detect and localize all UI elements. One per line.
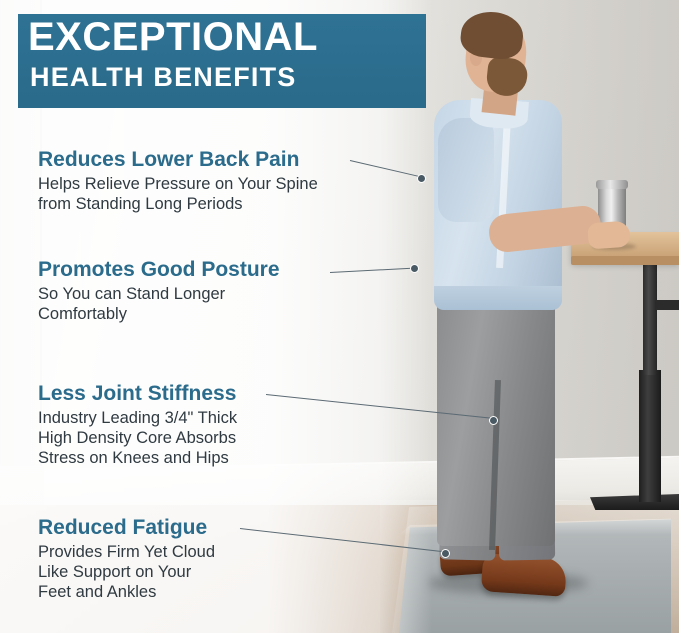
- product-lifestyle-poster: EXCEPTIONAL HEALTH BENEFITS Reduces Lowe…: [0, 0, 679, 633]
- benefit-body-1: Helps Relieve Pressure on Your Spine fro…: [38, 174, 318, 214]
- callout-dot-3: [489, 416, 498, 425]
- benefit-heading-4: Reduced Fatigue: [38, 516, 215, 539]
- benefit-block-promotes-good-posture: Promotes Good Posture So You can Stand L…: [38, 258, 280, 324]
- banner-title-line-2: HEALTH BENEFITS: [30, 64, 297, 91]
- benefit-heading-1: Reduces Lower Back Pain: [38, 148, 318, 171]
- benefit-heading-3: Less Joint Stiffness: [38, 382, 237, 405]
- callout-dot-2: [410, 264, 419, 273]
- benefit-block-reduces-lower-back-pain: Reduces Lower Back Pain Helps Relieve Pr…: [38, 148, 318, 214]
- benefit-block-less-joint-stiffness: Less Joint Stiffness Industry Leading 3/…: [38, 382, 237, 468]
- callout-dot-4: [441, 549, 450, 558]
- benefit-block-reduced-fatigue: Reduced Fatigue Provides Firm Yet Cloud …: [38, 516, 215, 602]
- benefit-body-3: Industry Leading 3/4" Thick High Density…: [38, 408, 237, 468]
- shirt-sleeve: [438, 118, 494, 222]
- callout-dot-1: [417, 174, 426, 183]
- right-hand: [587, 221, 631, 250]
- benefit-heading-2: Promotes Good Posture: [38, 258, 280, 281]
- benefit-body-4: Provides Firm Yet Cloud Like Support on …: [38, 542, 215, 602]
- benefit-body-2: So You can Stand Longer Comfortably: [38, 284, 280, 324]
- banner-title-line-1: EXCEPTIONAL: [28, 17, 318, 57]
- shirt-hem: [434, 286, 562, 310]
